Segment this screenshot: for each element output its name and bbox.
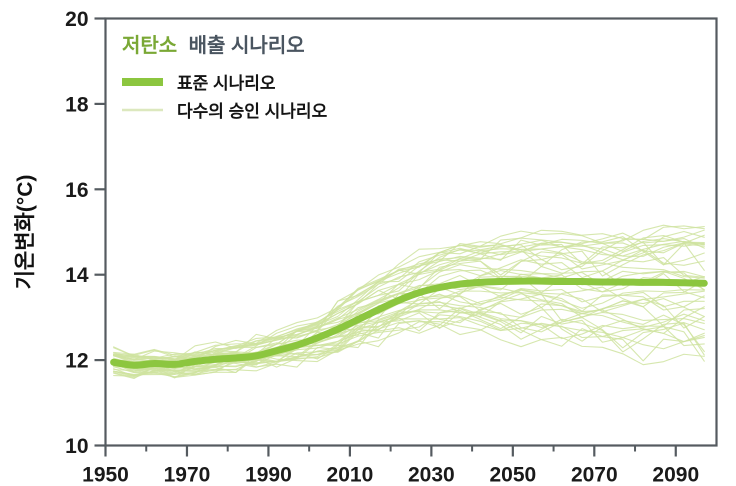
x-axis-tick-label: 1990	[245, 464, 292, 486]
x-axis-tick-label: 2030	[408, 464, 455, 486]
legend-title: 저탄소 배출 시나리오	[122, 34, 305, 57]
y-axis-tick-label: 18	[65, 93, 89, 116]
chart-background	[0, 0, 736, 486]
x-axis-tick-label: 2070	[571, 464, 618, 486]
legend-entry-label-standard: 표준 시나리오	[177, 74, 276, 93]
y-axis-tick-label: 10	[65, 435, 88, 458]
y-axis-title: 기온변화(°C)	[14, 175, 37, 290]
y-axis-tick-label: 16	[65, 179, 88, 202]
legend-entry-label-ensemble: 다수의 승인 시나리오	[177, 102, 328, 121]
x-axis-tick-label: 2010	[327, 464, 374, 486]
y-axis-tick-label: 14	[65, 264, 89, 287]
temperature-change-line-chart: 101214161820 195019701990201020302050207…	[0, 0, 736, 486]
x-axis-tick-label: 1950	[82, 464, 129, 486]
y-axis-tick-label: 20	[65, 8, 88, 31]
legend-title-green-part: 저탄소	[122, 34, 177, 57]
x-axis-tick-label: 2050	[489, 464, 536, 486]
x-axis-tick-label: 2090	[652, 464, 699, 486]
legend-title-dark-part: 배출 시나리오	[189, 34, 305, 57]
x-axis-tick-label: 1970	[164, 464, 211, 486]
y-axis-tick-label: 12	[65, 350, 88, 373]
